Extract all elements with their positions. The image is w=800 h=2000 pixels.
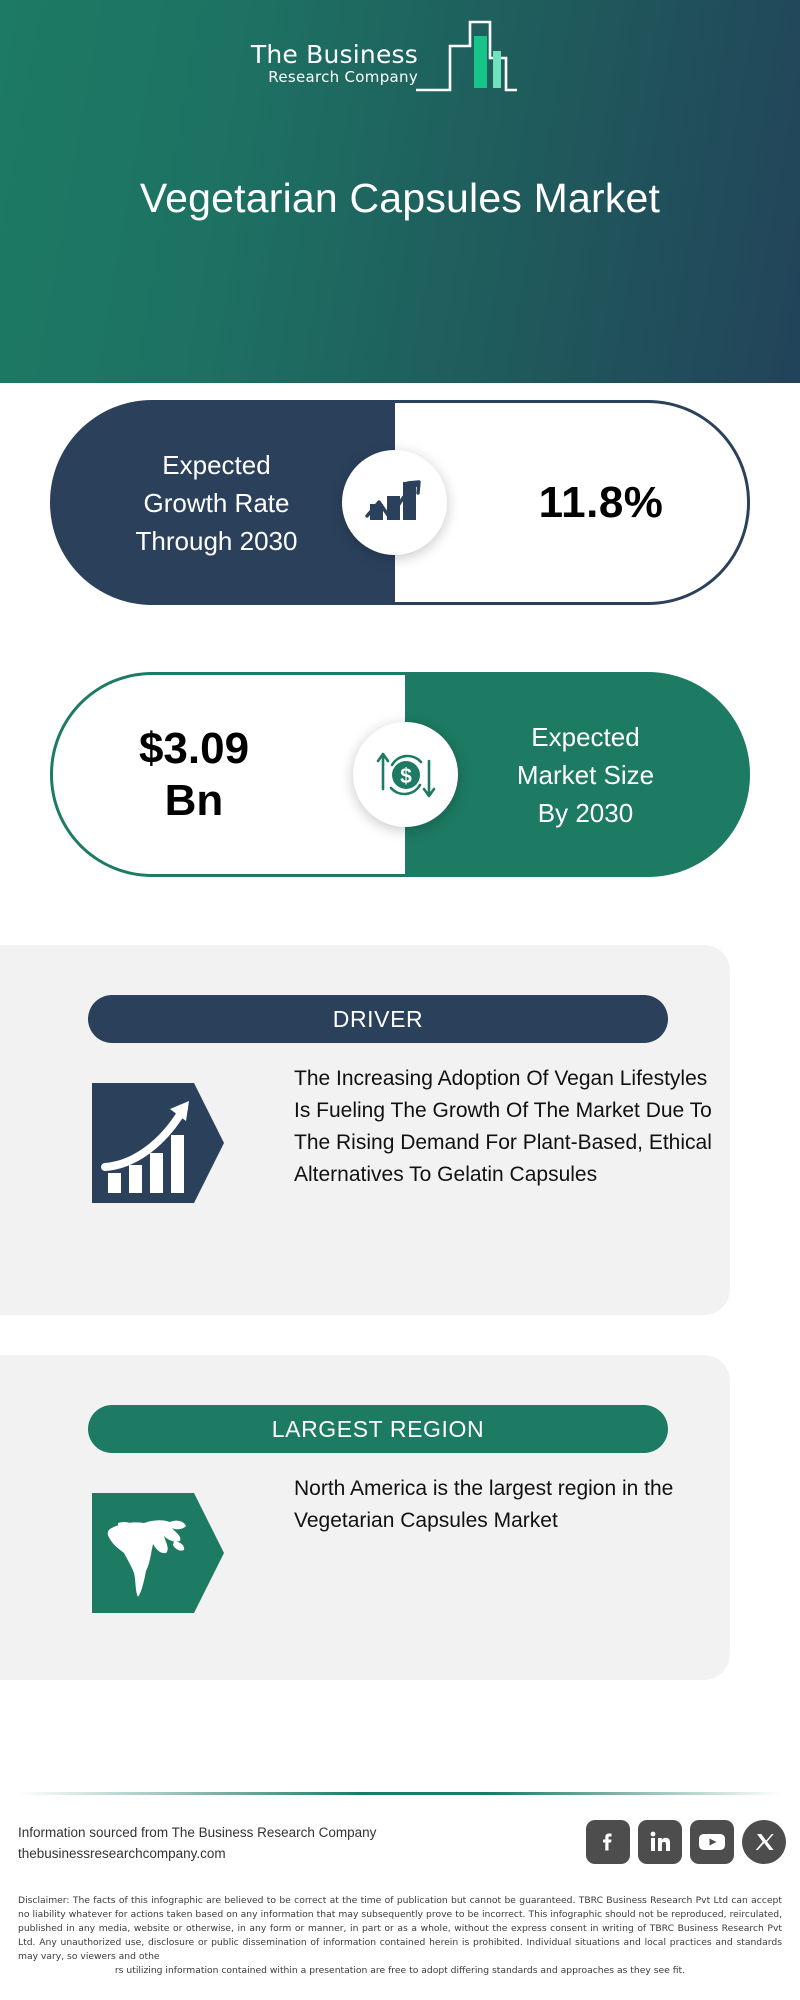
stat-value-pill: $3.09 Bn xyxy=(50,672,405,877)
disclaimer-last-line: rs utilizing information contained withi… xyxy=(18,1964,782,1978)
footer-source: Information sourced from The Business Re… xyxy=(18,1822,488,1864)
footer-divider xyxy=(18,1792,782,1795)
north-america-map-pentagon-icon xyxy=(88,1483,228,1623)
stat-card-market-size: $3.09 Bn Expected Market Size By 2030 $ xyxy=(50,672,750,877)
linkedin-icon[interactable] xyxy=(638,1820,682,1864)
bar-chart-growth-pentagon-icon xyxy=(88,1073,228,1213)
dollar-exchange-icon: $ xyxy=(353,722,458,827)
stat-label: Expected Market Size By 2030 xyxy=(491,718,664,832)
panel-driver: DRIVER The Increasing Adoption Of Vegan … xyxy=(0,945,730,1315)
page-title: Vegetarian Capsules Market xyxy=(0,175,800,222)
footer-source-line-1: Information sourced from The Business Re… xyxy=(18,1822,488,1843)
panel-text-driver: The Increasing Adoption Of Vegan Lifesty… xyxy=(294,1063,714,1191)
stat-value: 11.8% xyxy=(479,478,664,528)
logo-line-2: Research Company xyxy=(222,68,418,86)
svg-text:$: $ xyxy=(400,765,412,788)
stat-label: Expected Growth Rate Through 2030 xyxy=(126,446,320,560)
disclaimer-text: Disclaimer: The facts of this infographi… xyxy=(18,1894,782,1978)
stat-value-pill: 11.8% xyxy=(395,400,750,605)
panel-largest-region: LARGEST REGION North America is the larg… xyxy=(0,1355,730,1680)
stat-card-growth-rate: 11.8% Expected Growth Rate Through 2030 xyxy=(50,400,750,605)
panel-heading-largest-region: LARGEST REGION xyxy=(88,1405,668,1453)
growth-chart-arrow-icon xyxy=(342,450,447,555)
footer-source-url[interactable]: thebusinessresearchcompany.com xyxy=(18,1843,488,1864)
bar-chart-logo-mark-icon xyxy=(414,18,519,101)
company-logo: The Business Research Company xyxy=(222,18,522,98)
youtube-icon[interactable] xyxy=(690,1820,734,1864)
social-links xyxy=(586,1820,786,1864)
panel-text-largest-region: North America is the largest region in t… xyxy=(294,1473,714,1537)
stat-value: $3.09 Bn xyxy=(139,723,319,827)
x-twitter-icon[interactable] xyxy=(742,1820,786,1864)
logo-wordmark: The Business Research Company xyxy=(222,42,418,86)
header-banner: The Business Research Company Vegetarian… xyxy=(0,0,800,383)
facebook-icon[interactable] xyxy=(586,1820,630,1864)
panel-heading-driver: DRIVER xyxy=(88,995,668,1043)
disclaimer-main: Disclaimer: The facts of this infographi… xyxy=(18,1895,782,1962)
logo-line-1: The Business xyxy=(222,42,418,68)
